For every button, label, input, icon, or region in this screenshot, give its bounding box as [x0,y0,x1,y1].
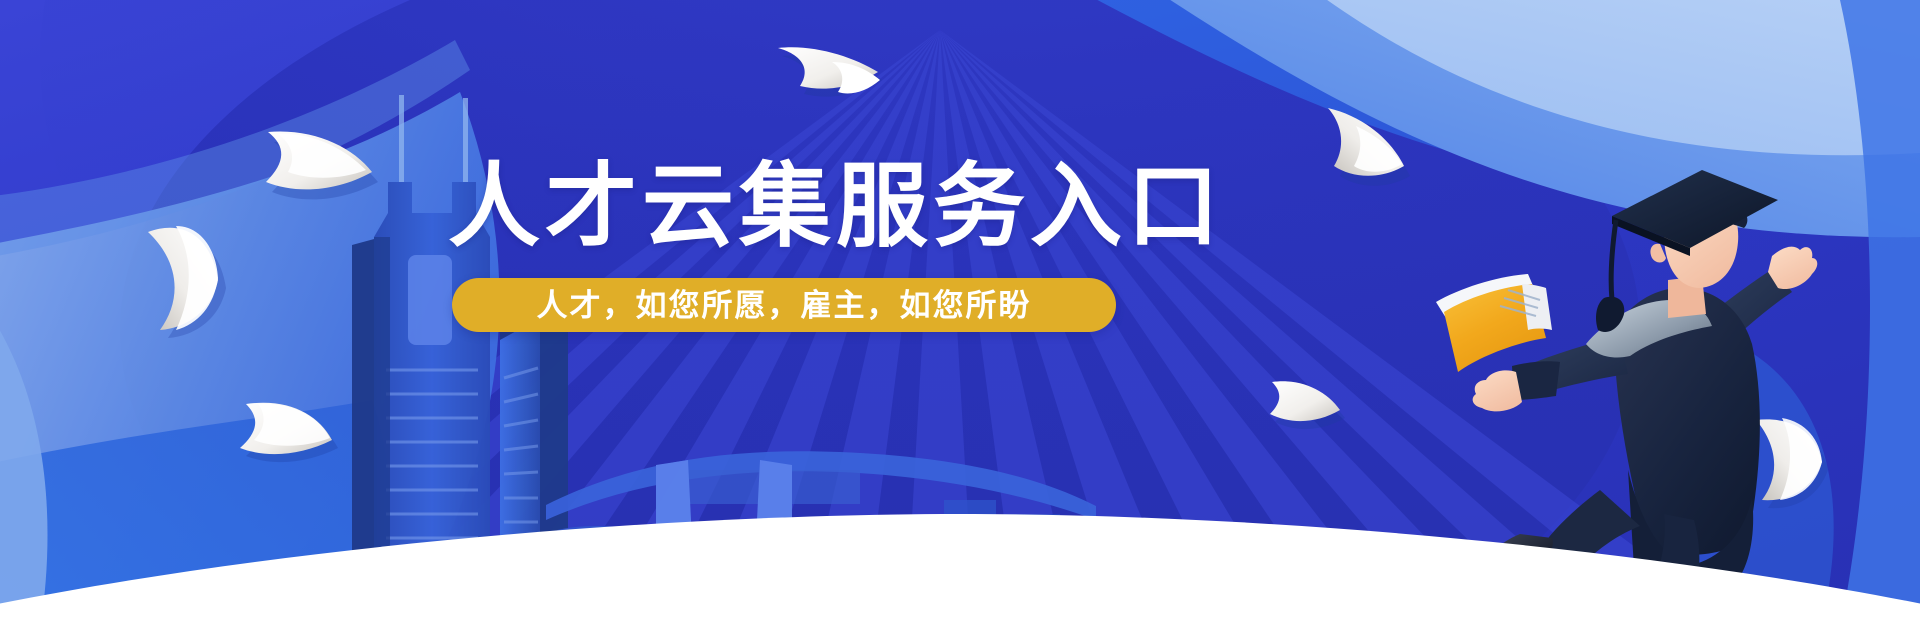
tagline-badge[interactable]: 人才，如您所愿，雇主，如您所盼 [452,278,1116,332]
banner-hero: 人才云集服务入口 人才，如您所愿，雇主，如您所盼 [0,0,1920,630]
tagline-badge-label: 人才，如您所愿，雇主，如您所盼 [537,290,1032,321]
page-title: 人才云集服务入口 [448,158,1148,257]
